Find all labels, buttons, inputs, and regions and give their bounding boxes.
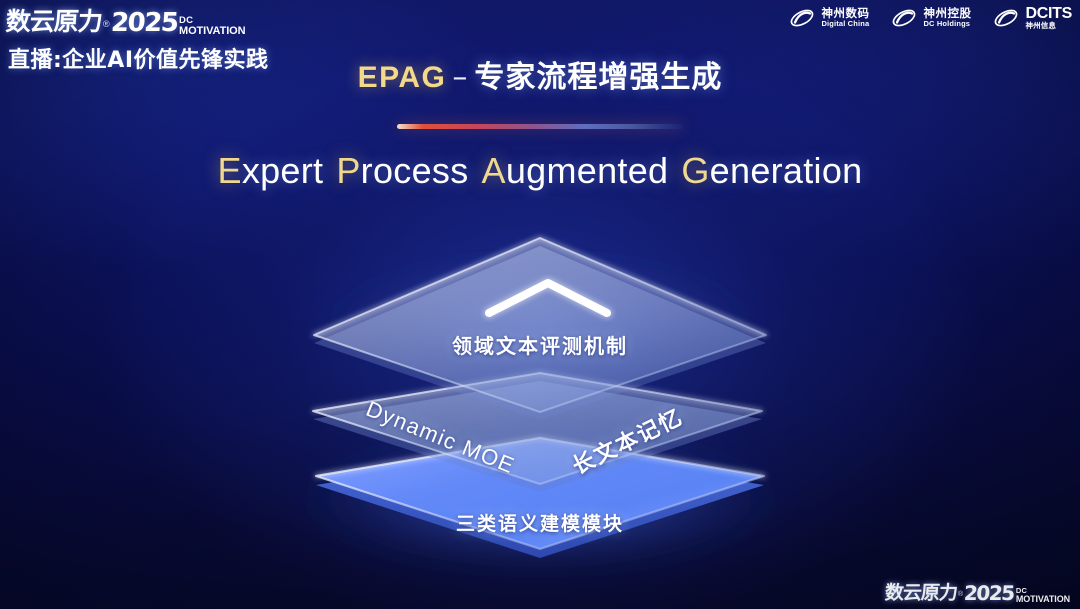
event-logo-cn: 数云原力 [5,2,104,38]
bottom-layer-label: 三类语义建模模块 [456,509,624,536]
partner-text: DCITS 神州信息 [1025,6,1072,30]
title-divider [397,124,683,129]
subtitle-cap-1: E [218,150,242,191]
watermark-dc-block: DC MOTIVATION [1016,588,1070,605]
watermark-registered: ® [958,591,963,598]
title-chinese: 专家流程增强生成 [474,60,722,95]
slide-root: 数云原力 ® 2025 DC MOTIVATION 直播:企业AI价值先锋实践 … [0,0,1080,609]
subtitle-rest-4: eneration [710,150,863,191]
live-title: 直播:企业AI价值先锋实践 [8,42,269,74]
swirl-icon [789,7,815,29]
partner-text: 神州控股 DC Holdings [923,8,971,28]
watermark-logo: 数云原力 ® 2025 DC MOTIVATION [885,578,1070,605]
subtitle-cap-3: A [482,150,506,191]
event-logo-motivation: MOTIVATION [179,26,245,36]
partner-name-en: Digital China [821,20,869,28]
subtitle-cap-2: P [336,150,360,191]
partner-logo-dc-holdings: 神州控股 DC Holdings [891,7,971,29]
subtitle-cap-4: G [681,150,709,191]
partner-logos: 神州数码 Digital China 神州控股 DC Holdings DCIT… [789,6,1072,30]
stack-layer-top[interactable] [314,238,766,420]
partner-name-en: DCITS [1025,6,1072,22]
partner-name-en: DC Holdings [923,20,971,28]
event-logo: 数云原力 ® 2025 DC MOTIVATION [6,2,269,38]
subtitle-rest-3: ugmented [506,150,669,191]
top-layer-face [314,238,766,412]
event-logo-registered: ® [103,19,110,29]
event-logo-dc-block: DC MOTIVATION [179,17,245,38]
subtitle-rest-1: xpert [242,150,324,191]
watermark-cn: 数云原力 [884,578,958,605]
partner-text: 神州数码 Digital China [821,8,869,28]
title-acronym: EPAG [358,61,447,94]
partner-logo-dcits: DCITS 神州信息 [993,6,1072,30]
header-left: 数云原力 ® 2025 DC MOTIVATION 直播:企业AI价值先锋实践 [6,2,269,74]
watermark-motivation: MOTIVATION [1016,595,1070,603]
partner-name-cn: 神州信息 [1025,22,1072,30]
swirl-icon [891,7,917,29]
subtitle-rest-2: rocess [361,150,469,191]
watermark-year: 2025 [963,581,1014,605]
event-logo-year: 2025 [110,8,178,38]
subtitle: ExpertProcessAugmentedGeneration [0,150,1080,192]
top-layer-label: 领域文本评测机制 [452,330,628,359]
swirl-icon [993,7,1019,29]
title-dash: – [446,60,474,95]
partner-logo-digital-china: 神州数码 Digital China [789,7,869,29]
